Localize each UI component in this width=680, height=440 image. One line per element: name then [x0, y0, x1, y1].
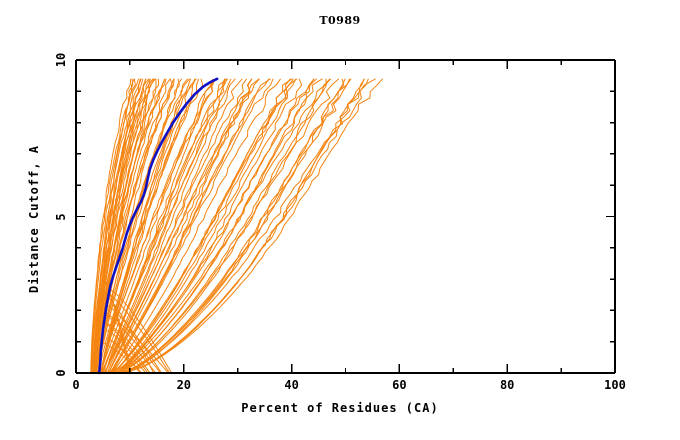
ensemble-curve: [118, 79, 338, 373]
ensemble-curve: [111, 79, 290, 373]
chart-figure: T0989 Distance Cutoff, A Percent of Resi…: [0, 0, 680, 440]
y-axis-label: Distance Cutoff, A: [27, 89, 41, 349]
ensemble-curve: [122, 79, 344, 373]
ensemble-curve: [122, 79, 345, 373]
chart-title: T0989: [0, 14, 680, 27]
y-tick-label-5: 5: [54, 213, 68, 220]
ensemble-curve: [125, 79, 376, 373]
y-tick-label-0: 0: [54, 369, 68, 376]
plot-canvas: [0, 0, 680, 440]
x-axis-label: Percent of Residues (CA): [0, 401, 680, 415]
x-tick-label-80: 80: [500, 378, 514, 392]
x-tick-label-100: 100: [604, 378, 626, 392]
x-tick-label-60: 60: [392, 378, 406, 392]
ensemble-curves: [91, 79, 383, 373]
x-tick-label-40: 40: [284, 378, 298, 392]
x-tick-label-0: 0: [72, 378, 79, 392]
y-tick-label-10: 10: [54, 53, 68, 67]
x-tick-label-20: 20: [177, 378, 191, 392]
